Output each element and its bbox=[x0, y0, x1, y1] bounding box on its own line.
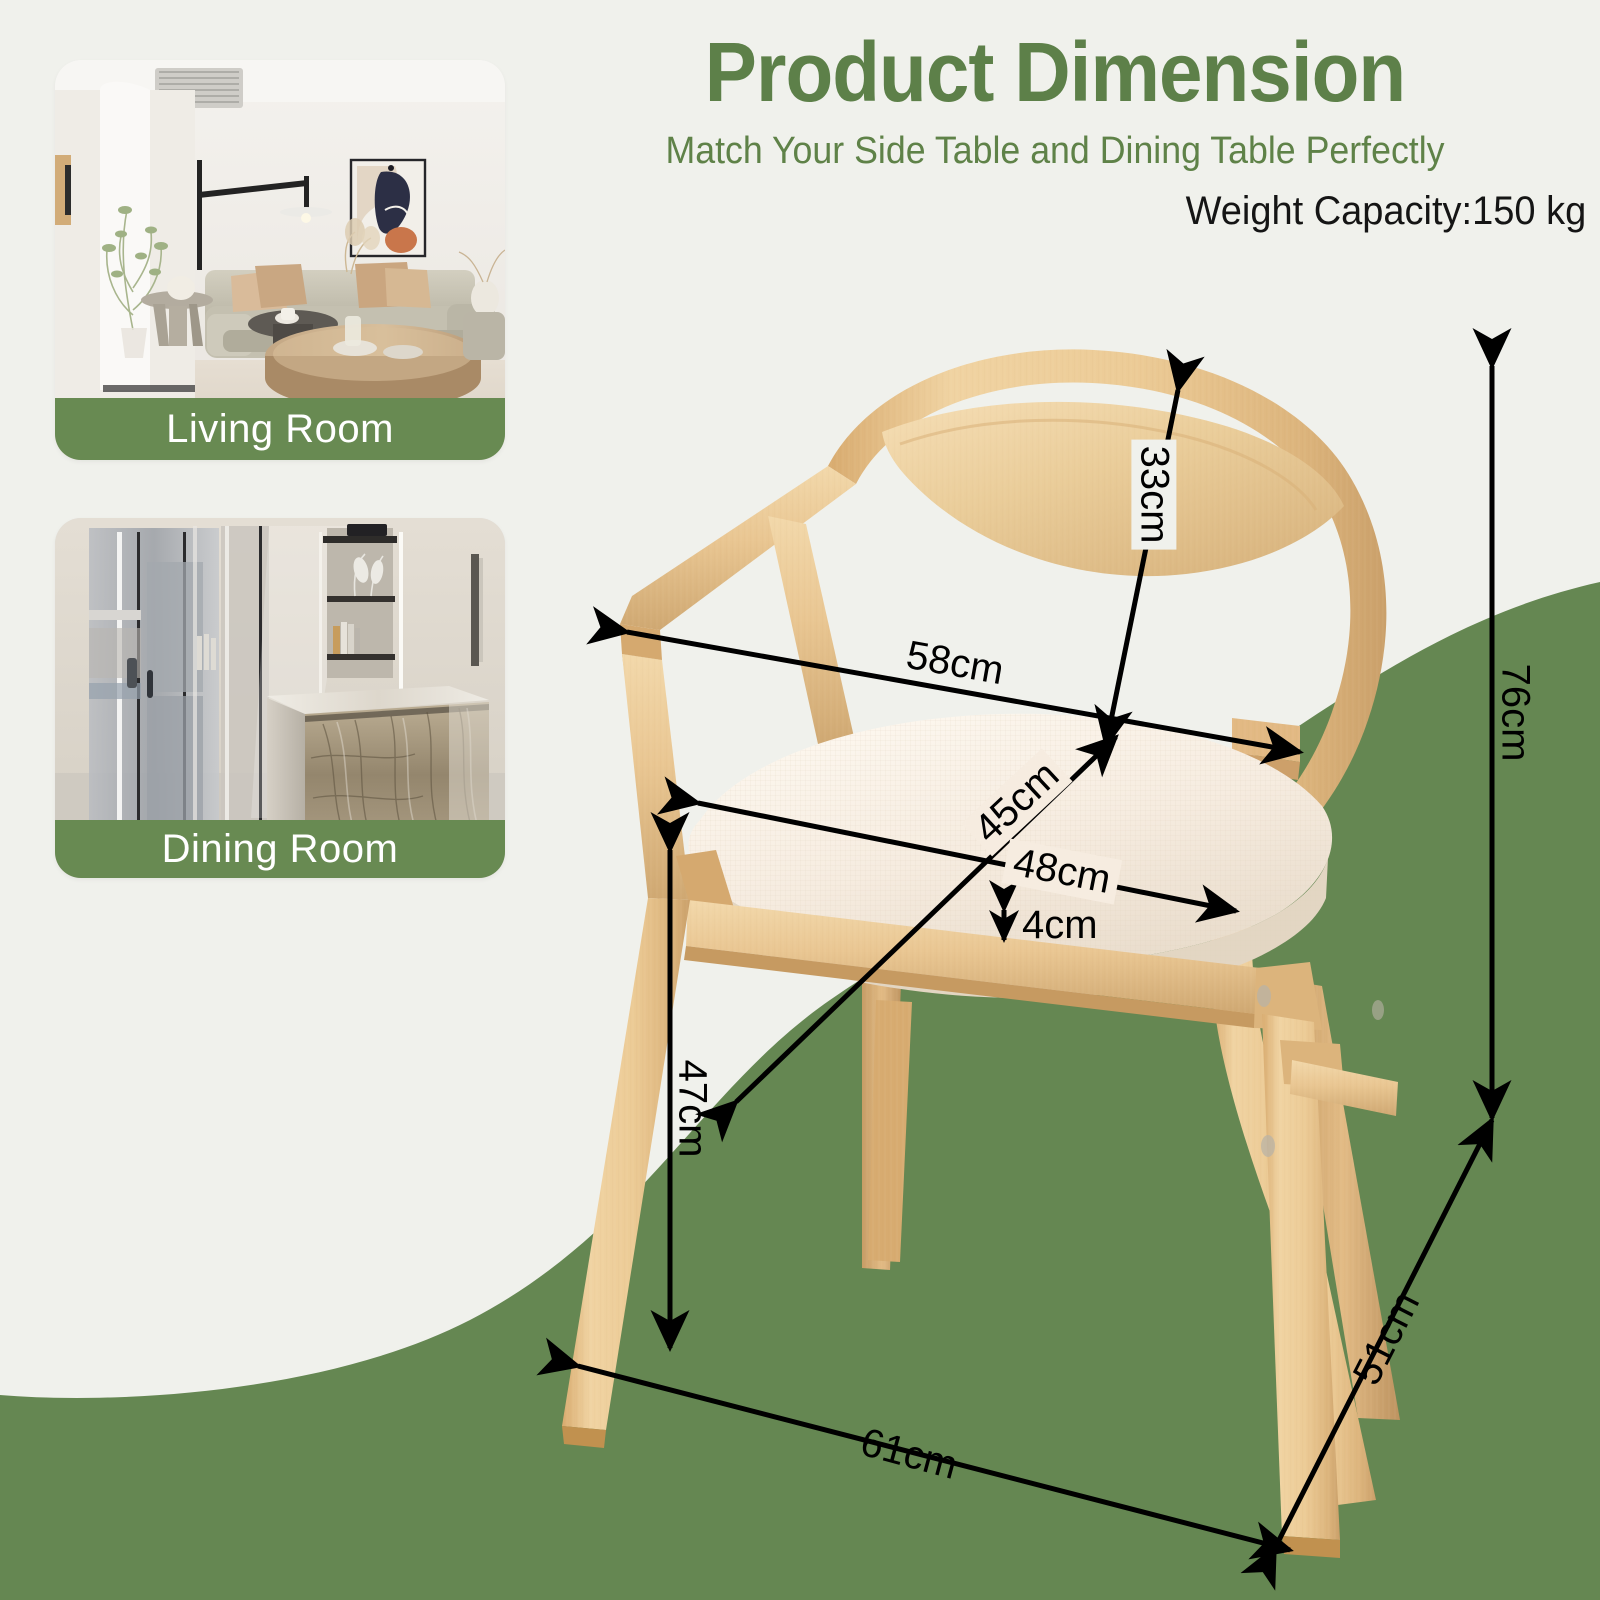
dimension-label-seat-height: 47cm bbox=[669, 1060, 714, 1158]
dimension-label-total-height: 76cm bbox=[1492, 664, 1537, 762]
dimension-label-cushion-thickness: 4cm bbox=[1022, 903, 1098, 948]
dimension-label-backrest-height: 33cm bbox=[1131, 440, 1176, 550]
infographic-canvas: Product Dimension Match Your Side Table … bbox=[0, 0, 1600, 1600]
